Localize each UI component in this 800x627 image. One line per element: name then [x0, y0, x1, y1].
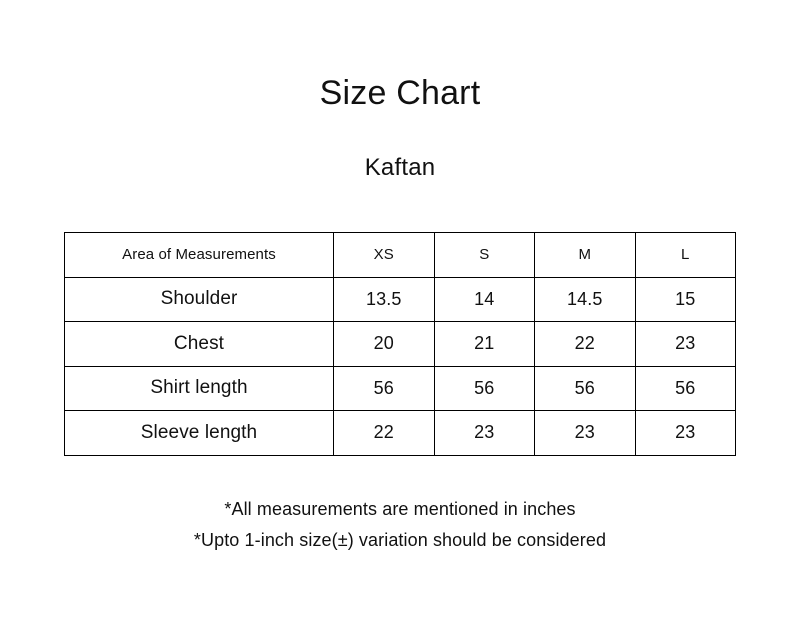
column-header-area-of-measurements: Area of Measurements — [65, 233, 334, 278]
footnotes: *All measurements are mentioned in inche… — [0, 494, 800, 556]
cell-chest-m: 22 — [535, 322, 636, 367]
cell-chest-l: 23 — [635, 322, 736, 367]
cell-shirt-length-l: 56 — [635, 366, 736, 411]
table-row: Shoulder 13.5 14 14.5 15 — [65, 277, 736, 322]
page-title: Size Chart — [0, 72, 800, 114]
cell-shirt-length-xs: 56 — [334, 366, 435, 411]
row-label-shirt-length: Shirt length — [65, 366, 334, 411]
cell-shoulder-s: 14 — [434, 277, 535, 322]
product-name-subtitle: Kaftan — [0, 152, 800, 184]
table-row: Sleeve length 22 23 23 23 — [65, 411, 736, 456]
table-header: Area of Measurements XS S M L — [65, 233, 736, 278]
cell-sleeve-length-xs: 22 — [334, 411, 435, 456]
cell-shirt-length-s: 56 — [434, 366, 535, 411]
table-row: Chest 20 21 22 23 — [65, 322, 736, 367]
footnote-units: *All measurements are mentioned in inche… — [0, 494, 800, 525]
size-table-container: Area of Measurements XS S M L Shoulder 1… — [64, 232, 735, 456]
cell-sleeve-length-m: 23 — [535, 411, 636, 456]
column-header-s: S — [434, 233, 535, 278]
cell-chest-s: 21 — [434, 322, 535, 367]
size-chart-page: Size Chart Kaftan Area of Measurements X… — [0, 0, 800, 627]
cell-shoulder-m: 14.5 — [535, 277, 636, 322]
row-label-shoulder: Shoulder — [65, 277, 334, 322]
column-header-m: M — [535, 233, 636, 278]
cell-shoulder-xs: 13.5 — [334, 277, 435, 322]
cell-sleeve-length-l: 23 — [635, 411, 736, 456]
table-row: Shirt length 56 56 56 56 — [65, 366, 736, 411]
cell-chest-xs: 20 — [334, 322, 435, 367]
cell-sleeve-length-s: 23 — [434, 411, 535, 456]
row-label-chest: Chest — [65, 322, 334, 367]
column-header-xs: XS — [334, 233, 435, 278]
table-header-row: Area of Measurements XS S M L — [65, 233, 736, 278]
cell-shirt-length-m: 56 — [535, 366, 636, 411]
cell-shoulder-l: 15 — [635, 277, 736, 322]
column-header-l: L — [635, 233, 736, 278]
table-body: Shoulder 13.5 14 14.5 15 Chest 20 21 22 … — [65, 277, 736, 455]
size-chart-table: Area of Measurements XS S M L Shoulder 1… — [64, 232, 736, 456]
footnote-variation: *Upto 1-inch size(±) variation should be… — [0, 525, 800, 556]
row-label-sleeve-length: Sleeve length — [65, 411, 334, 456]
